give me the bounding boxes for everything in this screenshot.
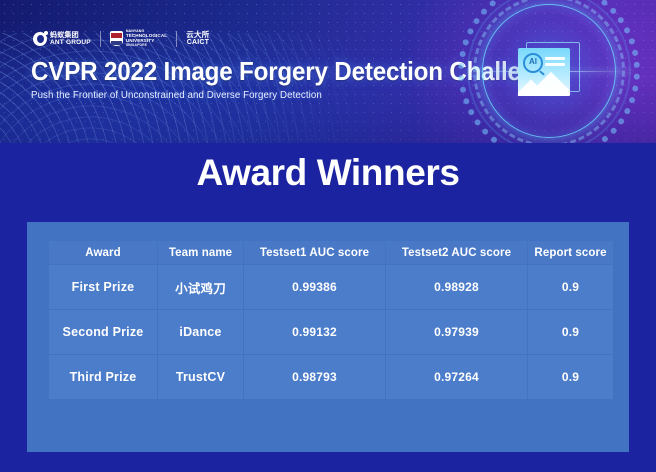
caict-logo-en: CAICT [186,39,209,46]
cell-team: iDance [158,310,243,354]
ant-logo-icon [33,32,47,46]
cell-testset2: 0.97939 [386,310,527,354]
event-banner: 蚂蚁集团 ANT GROUP NANYANG TECHNOLOGICAL UNI… [0,0,656,143]
award-winners-table: Award Team name Testset1 AUC score Tests… [48,240,614,400]
results-panel: Award Team name Testset1 AUC score Tests… [27,222,629,452]
ntu-logo: NANYANG TECHNOLOGICAL UNIVERSITY SINGAPO… [110,30,167,48]
page-title: Award Winners [0,152,656,194]
logo-divider-1 [100,31,101,47]
document-text-line-1 [545,57,565,60]
cell-report: 0.9 [528,310,613,354]
cell-testset2: 0.98928 [386,265,527,309]
ai-image-detection-icon: AI [518,42,580,100]
ntu-logo-line4: SINGAPORE [126,44,167,48]
cell-testset1: 0.98793 [244,355,385,399]
table-header-row: Award Team name Testset1 AUC score Tests… [49,241,613,264]
ant-group-logo: 蚂蚁集团 ANT GROUP [33,32,91,47]
cell-testset2: 0.97264 [386,355,527,399]
ant-logo-cn: 蚂蚁集团 [50,32,91,39]
table-row: Third Prize TrustCV 0.98793 0.97264 0.9 [49,355,613,399]
cell-team: TrustCV [158,355,243,399]
table-row: Second Prize iDance 0.99132 0.97939 0.9 [49,310,613,354]
cell-award: Third Prize [49,355,157,399]
photo-mountain-icon [518,70,570,96]
cell-testset1: 0.99386 [244,265,385,309]
cell-testset1: 0.99132 [244,310,385,354]
cell-award: First Prize [49,265,157,309]
column-header-testset1: Testset1 AUC score [244,241,385,264]
cell-report: 0.9 [528,265,613,309]
ant-logo-text: 蚂蚁集团 ANT GROUP [50,32,91,47]
cell-team: 小试鸡刀 [158,265,243,309]
document-text-line-2 [545,63,565,66]
caict-logo-cn: 云大所 [186,31,209,39]
ant-logo-en: ANT GROUP [50,40,91,47]
column-header-report: Report score [528,241,613,264]
table-row: First Prize 小试鸡刀 0.99386 0.98928 0.9 [49,265,613,309]
cell-award: Second Prize [49,310,157,354]
column-header-award: Award [49,241,157,264]
slide-root: 蚂蚁集团 ANT GROUP NANYANG TECHNOLOGICAL UNI… [0,0,656,472]
cell-report: 0.9 [528,355,613,399]
ntu-crest-icon [110,31,123,46]
caict-logo: 云大所 CAICT [186,31,209,46]
challenge-subtitle: Push the Frontier of Unconstrained and D… [31,90,322,101]
logo-divider-2 [176,31,177,47]
column-header-team: Team name [158,241,243,264]
ntu-logo-text: NANYANG TECHNOLOGICAL UNIVERSITY SINGAPO… [126,30,167,48]
sponsor-logo-strip: 蚂蚁集团 ANT GROUP NANYANG TECHNOLOGICAL UNI… [33,28,210,50]
document-front-sheet: AI [518,48,570,96]
ai-detection-emblem: AI [460,0,638,143]
column-header-testset2: Testset2 AUC score [386,241,527,264]
